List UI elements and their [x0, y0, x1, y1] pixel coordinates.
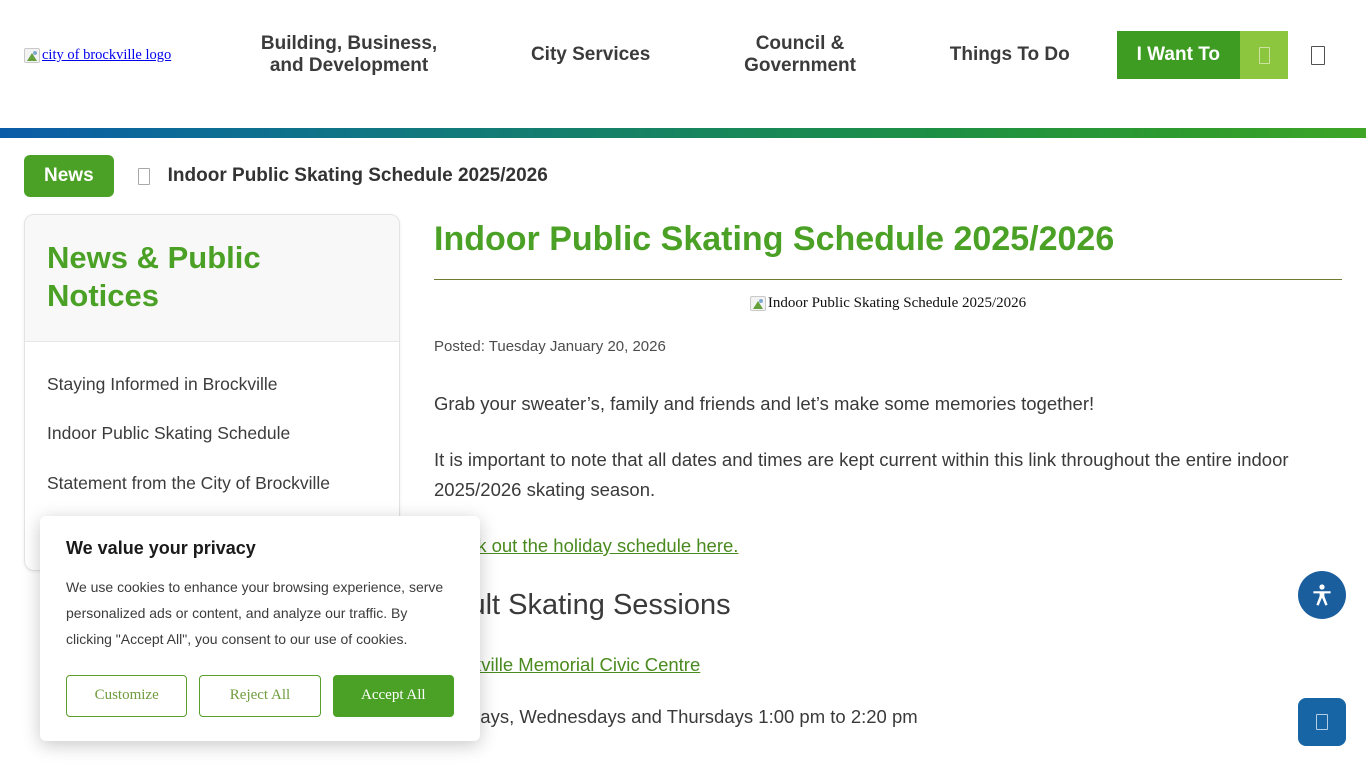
article-paragraph-2: It is important to note that all dates a… — [434, 445, 1342, 505]
section-heading-adult-skating: Adult Skating Sessions — [434, 589, 1342, 622]
nav-item-things-to-do[interactable]: Things To Do — [944, 44, 1076, 66]
article-image: Indoor Public Skating Schedule 2025/2026 — [434, 296, 1342, 316]
cookie-dialog-body: We use cookies to enhance your browsing … — [66, 575, 454, 653]
sidebar-title: News & Public Notices — [47, 239, 377, 315]
header-actions: I Want To — [1117, 0, 1348, 110]
missing-glyph-box — [138, 168, 150, 185]
reject-all-button[interactable]: Reject All — [199, 675, 320, 717]
cookie-consent-dialog: We value your privacy We use cookies to … — [40, 516, 480, 741]
article-paragraph-1: Grab your sweater’s, family and friends … — [434, 389, 1342, 419]
sidebar-item-indoor-skating[interactable]: Indoor Public Skating Schedule — [25, 409, 399, 459]
page-title: Indoor Public Skating Schedule 2025/2026 — [434, 220, 1342, 259]
breadcrumb-current-page: Indoor Public Skating Schedule 2025/2026 — [168, 165, 548, 187]
breadcrumb-separator-icon — [138, 168, 150, 185]
holiday-schedule-link-wrap: Check out the holiday schedule here. — [434, 531, 1342, 561]
chevron-down-icon[interactable] — [1240, 31, 1288, 79]
chat-widget-icon[interactable] — [1298, 698, 1346, 746]
logo-alt-text[interactable]: city of brockville logo — [42, 48, 171, 63]
missing-glyph-box — [1316, 714, 1328, 730]
accept-all-button[interactable]: Accept All — [333, 675, 454, 717]
site-header: city of brockville logo Building, Busine… — [0, 0, 1366, 138]
title-divider — [434, 279, 1342, 280]
missing-glyph-box — [1311, 46, 1325, 65]
breadcrumb: News Indoor Public Skating Schedule 2025… — [0, 138, 1366, 214]
broken-image-icon — [750, 296, 766, 311]
cookie-dialog-actions: Customize Reject All Accept All — [66, 675, 454, 717]
page-viewport: city of brockville logo Building, Busine… — [0, 0, 1366, 768]
venue-link-wrap: Brockville Memorial Civic Centre — [434, 650, 1342, 680]
article-main: Indoor Public Skating Schedule 2025/2026… — [434, 214, 1342, 728]
nav-item-building-business-development[interactable]: Building, Business, and Development — [255, 33, 443, 78]
broken-image-icon — [24, 48, 40, 63]
broken-image-placeholder: Indoor Public Skating Schedule 2025/2026 — [750, 296, 1026, 311]
posted-date: Posted: Tuesday January 20, 2026 — [434, 338, 1342, 355]
site-logo[interactable]: city of brockville logo — [24, 40, 214, 70]
nav-item-council-government[interactable]: Council & Government — [738, 33, 862, 78]
header-inner: city of brockville logo Building, Busine… — [0, 0, 1366, 110]
session-times: Mondays, Wednesdays and Thursdays 1:00 p… — [434, 706, 1342, 728]
header-accent-bar — [0, 128, 1366, 138]
menu-toggle-icon[interactable] — [1288, 31, 1348, 79]
sidebar-item-statement-city[interactable]: Statement from the City of Brockville — [25, 459, 399, 509]
nav-item-city-services[interactable]: City Services — [525, 44, 656, 66]
sidebar-header: News & Public Notices — [25, 215, 399, 342]
i-want-to-group: I Want To — [1117, 31, 1288, 79]
customize-button[interactable]: Customize — [66, 675, 187, 717]
main-navigation: Building, Business, and Development City… — [214, 0, 1117, 110]
i-want-to-button[interactable]: I Want To — [1117, 31, 1240, 79]
accessibility-icon[interactable] — [1298, 571, 1346, 619]
sidebar-item-staying-informed[interactable]: Staying Informed in Brockville — [25, 360, 399, 410]
cookie-dialog-title: We value your privacy — [66, 538, 454, 559]
missing-glyph-box — [1259, 47, 1270, 64]
broken-image-placeholder[interactable]: city of brockville logo — [24, 48, 171, 63]
breadcrumb-news-pill[interactable]: News — [24, 155, 114, 197]
article-image-alt-text: Indoor Public Skating Schedule 2025/2026 — [768, 296, 1026, 311]
